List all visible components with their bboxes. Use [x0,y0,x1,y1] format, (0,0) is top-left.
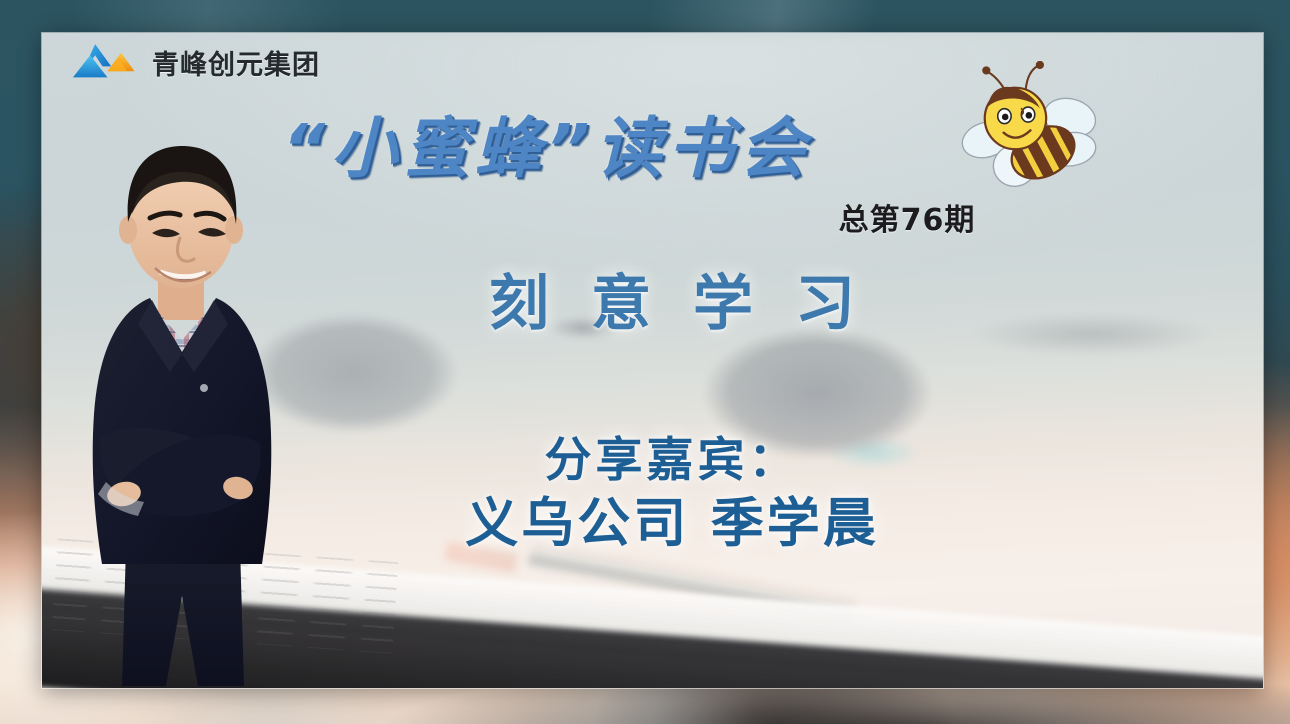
speaker-portrait [54,126,309,692]
episode-label: 总第76期 [787,195,1027,239]
speaker-block: 分享嘉宾： 义乌公司 季学晨 [342,431,1002,557]
speaker-name: 义乌公司 季学晨 [342,491,1002,557]
brand-name: 青峰创元集团 [152,43,320,82]
mountain-peaks-logo-icon [68,39,142,85]
bee-icon [952,61,1112,191]
speaker-label: 分享嘉宾： [342,431,1002,491]
theme-title: 刻意学习 [342,255,1002,342]
slide-stage: 青峰创元集团 “小蜜蜂”读书会 [0,0,1290,724]
